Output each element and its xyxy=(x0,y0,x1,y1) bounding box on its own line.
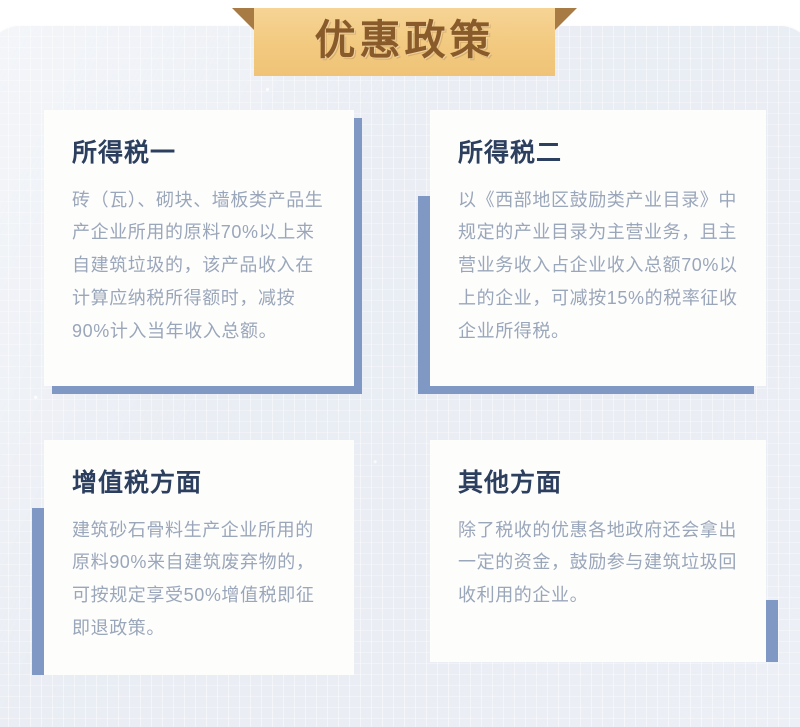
card-body-text: 砖（瓦）、砌块、墙板类产品生产企业所用的原料70%以上来自建筑垃圾的，该产品收入… xyxy=(72,184,328,348)
card-body-text: 以《西部地区鼓励类产业目录》中规定的产业目录为主营业务，且主营业务收入占企业收入… xyxy=(458,184,740,348)
policy-card-income-tax-two[interactable]: 所得税二 以《西部地区鼓励类产业目录》中规定的产业目录为主营业务，且主营业务收入… xyxy=(430,110,766,386)
banner: 优惠政策 xyxy=(232,4,577,80)
policy-card-vat[interactable]: 增值税方面 建筑砂石骨料生产企业所用的原料90%来自建筑废弃物的，可按规定享受5… xyxy=(44,440,354,675)
page-title: 优惠政策 xyxy=(315,20,495,64)
card-body-text: 建筑砂石骨料生产企业所用的原料90%来自建筑废弃物的，可按规定享受50%增值税即… xyxy=(72,514,328,645)
policy-card-income-tax-one[interactable]: 所得税一 砖（瓦）、砌块、墙板类产品生产企业所用的原料70%以上来自建筑垃圾的，… xyxy=(44,110,354,386)
policy-card-other[interactable]: 其他方面 除了税收的优惠各地政府还会拿出一定的资金，鼓励参与建筑垃圾回收利用的企… xyxy=(430,440,766,662)
card-title: 所得税一 xyxy=(72,140,328,168)
infographic-page: 优惠政策 所得税一 砖（瓦）、砌块、墙板类产品生产企业所用的原料70%以上来自建… xyxy=(0,0,800,727)
card-title: 其他方面 xyxy=(458,470,740,498)
card-title: 增值税方面 xyxy=(72,470,328,498)
banner-body: 优惠政策 xyxy=(254,8,555,76)
card-title: 所得税二 xyxy=(458,140,740,168)
card-body-text: 除了税收的优惠各地政府还会拿出一定的资金，鼓励参与建筑垃圾回收利用的企业。 xyxy=(458,514,740,612)
